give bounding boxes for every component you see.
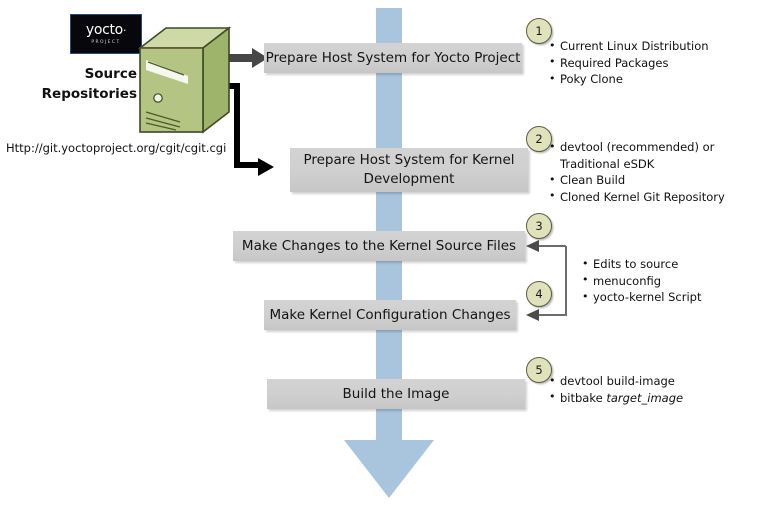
list-item: Cloned Kernel Git Repository — [549, 189, 754, 206]
list-item: yocto-kernel Script — [582, 289, 752, 306]
list-item-text: devtool build-image — [560, 374, 675, 388]
source-repositories-label-line1: Source — [12, 64, 137, 84]
connector-server-to-step2-segment2 — [234, 83, 240, 168]
connector-server-to-step2-arrowhead — [258, 158, 274, 176]
list-item: Current Linux Distribution — [549, 38, 754, 55]
workflow-diagram: yocto· PROJECT Source Repositories Http:… — [0, 0, 769, 517]
source-repositories-label-line2: Repositories — [12, 84, 137, 104]
step-number-1: 1 — [526, 18, 552, 44]
process-box-step2-label: Prepare Host System for Kernel Developme… — [290, 151, 528, 189]
feedback-connector-vertical — [565, 246, 567, 316]
yocto-logo-subtext: PROJECT — [91, 39, 120, 46]
process-box-step1-label: Prepare Host System for Yocto Project — [266, 49, 521, 68]
process-box-step2[interactable]: Prepare Host System for Kernel Developme… — [290, 148, 528, 192]
server-icon — [136, 26, 232, 136]
process-box-step4[interactable]: Make Kernel Configuration Changes — [264, 300, 516, 330]
feedback-connector-to-step3 — [538, 245, 566, 247]
step-number-2: 2 — [526, 126, 552, 152]
yocto-logo-wordmark: yocto· — [86, 23, 126, 38]
bullet-list-step2: devtool (recommended) or Traditional eSD… — [549, 139, 754, 205]
main-flow-arrow-head — [344, 440, 434, 498]
process-box-step1[interactable]: Prepare Host System for Yocto Project — [264, 43, 522, 73]
bullet-list-step5: devtool build-image bitbake target_image — [549, 373, 754, 406]
list-item-text: bitbake — [560, 391, 606, 405]
step-number-4: 4 — [526, 281, 552, 307]
list-item: menuconfig — [582, 273, 752, 290]
list-item: bitbake target_image — [549, 390, 754, 407]
process-box-step3[interactable]: Make Changes to the Kernel Source Files — [233, 231, 525, 261]
list-item: Clean Build — [549, 172, 754, 189]
source-repositories-url: Http://git.yoctoproject.org/cgit/cgit.cg… — [6, 141, 226, 155]
process-box-step5-label: Build the Image — [343, 385, 450, 404]
list-item: devtool (recommended) or Traditional eSD… — [549, 139, 754, 172]
yocto-logo-text: yocto — [86, 22, 123, 38]
step-number-5: 5 — [526, 357, 552, 383]
feedback-connector-to-step4 — [538, 314, 566, 316]
process-box-step4-label: Make Kernel Configuration Changes — [269, 306, 510, 325]
step-number-3: 3 — [526, 213, 552, 239]
feedback-arrowhead-step3 — [526, 240, 539, 252]
list-item-emphasis: target_image — [606, 391, 683, 405]
list-item: Required Packages — [549, 55, 754, 72]
bullet-list-steps3-4: Edits to source menuconfig yocto-kernel … — [582, 256, 752, 306]
list-item: devtool build-image — [549, 373, 754, 390]
yocto-logo-dot: · — [123, 24, 126, 37]
source-repositories-label: Source Repositories — [12, 64, 137, 104]
bullet-list-step1: Current Linux Distribution Required Pack… — [549, 38, 754, 88]
list-item: Poky Clone — [549, 71, 754, 88]
process-box-step5[interactable]: Build the Image — [267, 379, 525, 409]
feedback-arrowhead-step4 — [526, 309, 539, 321]
process-box-step3-label: Make Changes to the Kernel Source Files — [242, 237, 516, 256]
list-item: Edits to source — [582, 256, 752, 273]
yocto-project-logo: yocto· PROJECT — [70, 14, 142, 54]
